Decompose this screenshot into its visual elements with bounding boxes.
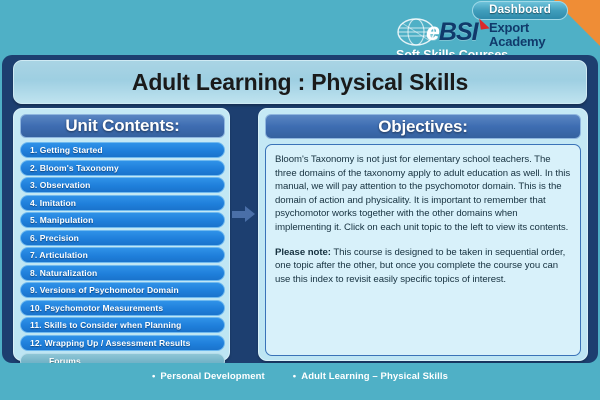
- logo-letters-bsi: BSI: [439, 18, 478, 46]
- objectives-note: Please note: This course is designed to …: [275, 246, 571, 287]
- logo-line-academy: Academy: [489, 35, 545, 48]
- right-arrow-icon: [232, 206, 256, 223]
- unit-contents-panel: Unit Contents: 1. Getting Started2. Bloo…: [13, 108, 230, 361]
- unit-item-11[interactable]: 11. Skills to Consider when Planning: [20, 317, 225, 333]
- arrow-head: [245, 206, 255, 222]
- page-title: Adult Learning : Physical Skills: [14, 61, 586, 103]
- arrow-shaft: [232, 211, 246, 218]
- unit-contents-list: 1. Getting Started2. Bloom's Taxonomy3. …: [20, 142, 223, 369]
- objectives-header: Objectives:: [265, 114, 581, 139]
- unit-item-2[interactable]: 2. Bloom's Taxonomy: [20, 160, 225, 176]
- ebsi-logo[interactable]: eBSI Export Academy Soft Skills Courses: [396, 18, 564, 58]
- unit-item-4[interactable]: 4. Imitation: [20, 195, 225, 211]
- title-bar: Adult Learning : Physical Skills: [13, 60, 587, 104]
- breadcrumb: Personal DevelopmentAdult Learning – Phy…: [0, 363, 600, 389]
- objectives-body: Bloom's Taxonomy is not just for element…: [265, 144, 581, 356]
- unit-item-8[interactable]: 8. Naturalization: [20, 265, 225, 281]
- breadcrumb-item-1[interactable]: Personal Development: [152, 371, 265, 382]
- page-header: Dashboard eBSI Export Academy Soft Skill…: [0, 0, 600, 58]
- unit-item-7[interactable]: 7. Articulation: [20, 247, 225, 263]
- breadcrumb-item-2[interactable]: Adult Learning – Physical Skills: [293, 371, 448, 382]
- note-label: Please note:: [275, 247, 331, 258]
- unit-item-10[interactable]: 10. Psychomotor Measurements: [20, 300, 225, 316]
- objectives-panel: Objectives: Bloom's Taxonomy is not just…: [258, 108, 588, 361]
- logo-wordmark: eBSI: [426, 20, 478, 45]
- unit-item-1[interactable]: 1. Getting Started: [20, 142, 225, 158]
- logo-line-export: Export: [489, 21, 529, 34]
- unit-contents-header: Unit Contents:: [20, 114, 225, 138]
- unit-item-9[interactable]: 9. Versions of Psychomotor Domain: [20, 282, 225, 298]
- page-footer: Personal DevelopmentAdult Learning – Phy…: [0, 363, 600, 400]
- unit-item-12[interactable]: 12. Wrapping Up / Assessment Results: [20, 335, 225, 351]
- unit-item-6[interactable]: 6. Precision: [20, 230, 225, 246]
- application-screen: Dashboard eBSI Export Academy Soft Skill…: [0, 0, 600, 400]
- unit-item-5[interactable]: 5. Manipulation: [20, 212, 225, 228]
- unit-item-3[interactable]: 3. Observation: [20, 177, 225, 193]
- objectives-paragraph-1: Bloom's Taxonomy is not just for element…: [275, 153, 571, 235]
- logo-letter-e: e: [426, 18, 439, 46]
